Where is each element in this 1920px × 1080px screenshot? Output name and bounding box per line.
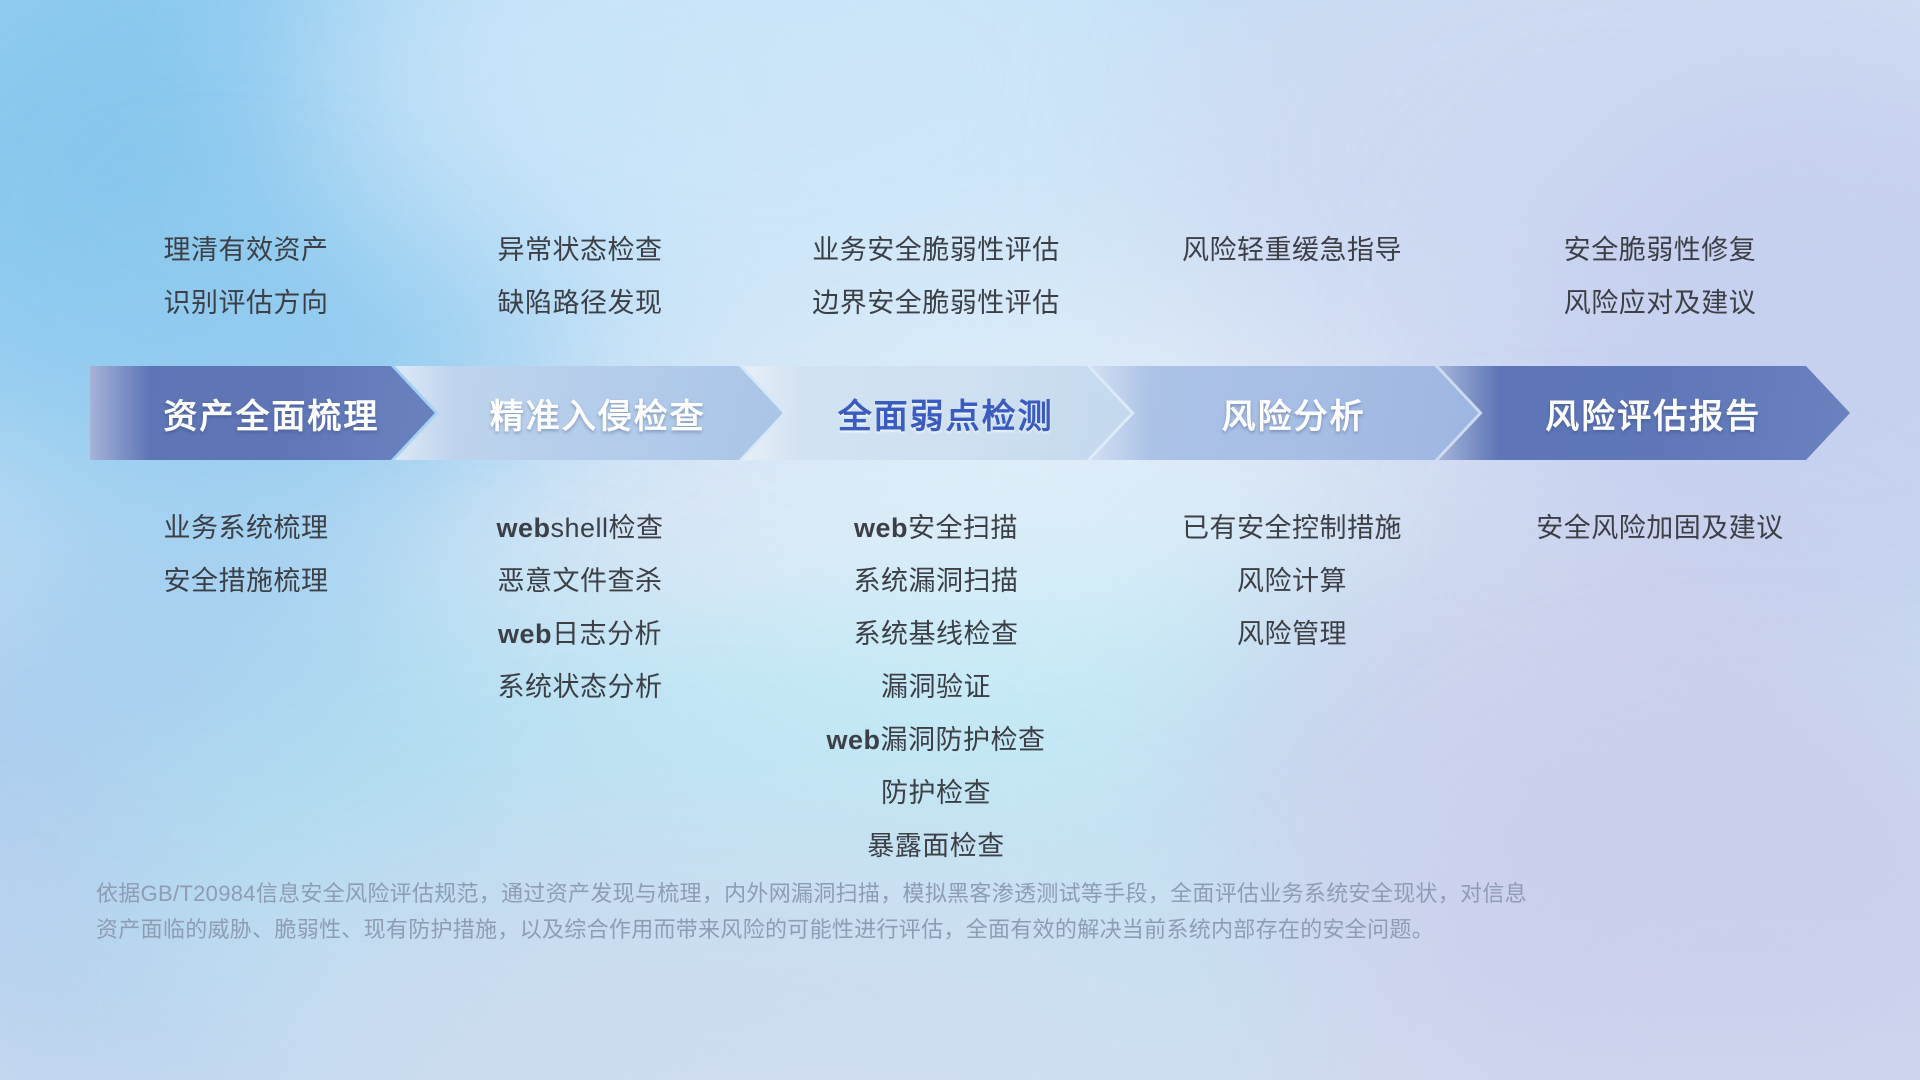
slide-content: 理清有效资产 识别评估方向 异常状态检查 缺陷路径发现 业务安全脆弱性评估 边界… [0,0,1920,1080]
outputs-column-3: web安全扫描 系统漏洞扫描 系统基线检查 漏洞验证 web漏洞防护检查 防护检… [758,508,1114,866]
chevron-label: 风险分析 [1204,389,1366,438]
chevron-stage-2[interactable]: 精准入侵检查 [395,366,783,460]
input-item: 识别评估方向 [164,283,329,323]
output-item: 防护检查 [881,773,991,813]
footer-line-2: 资产面临的威胁、脆弱性、现有防护措施，以及综合作用而带来风险的可能性进行评估，全… [96,912,1736,948]
outputs-column-5: 安全风险加固及建议 [1470,508,1850,548]
input-item: 风险应对及建议 [1564,283,1757,323]
input-item: 安全脆弱性修复 [1564,230,1757,270]
output-item: 安全措施梳理 [164,561,329,601]
inputs-column-3: 业务安全脆弱性评估 边界安全脆弱性评估 [758,230,1114,323]
output-item: 系统漏洞扫描 [854,561,1019,601]
output-item: web漏洞防护检查 [826,720,1045,760]
output-item: 已有安全控制措施 [1182,508,1402,548]
inputs-column-1: 理清有效资产 识别评估方向 [90,230,402,323]
chevron-stage-1[interactable]: 资产全面梳理 [90,366,435,460]
output-item: web日志分析 [498,614,662,654]
output-item: 风险计算 [1237,561,1347,601]
output-item: webshell检查 [496,508,663,548]
chevron-label: 精准入侵检查 [472,389,706,438]
outputs-row: 业务系统梳理 安全措施梳理 webshell检查 恶意文件查杀 web日志分析 … [90,508,1850,866]
chevron-label: 资产全面梳理 [145,389,379,438]
chevron-label: 风险评估报告 [1527,389,1761,438]
input-item: 边界安全脆弱性评估 [812,283,1060,323]
input-item: 异常状态检查 [498,230,663,270]
inputs-column-2: 异常状态检查 缺陷路径发现 [402,230,758,323]
input-item: 业务安全脆弱性评估 [812,230,1060,270]
output-item: 风险管理 [1237,614,1347,654]
output-item: 业务系统梳理 [164,508,329,548]
output-item: 漏洞验证 [881,667,991,707]
output-item: 安全风险加固及建议 [1536,508,1784,548]
output-item: web安全扫描 [854,508,1018,548]
outputs-column-1: 业务系统梳理 安全措施梳理 [90,508,402,601]
footer-description: 依据GB/T20984信息安全风险评估规范，通过资产发现与梳理，内外网漏洞扫描，… [96,876,1736,948]
footer-line-1: 依据GB/T20984信息安全风险评估规范，通过资产发现与梳理，内外网漏洞扫描，… [96,876,1736,912]
output-item: 恶意文件查杀 [498,561,663,601]
output-item: 系统状态分析 [498,667,663,707]
input-item: 缺陷路径发现 [498,283,663,323]
input-item: 风险轻重缓急指导 [1182,230,1402,270]
outputs-column-2: webshell检查 恶意文件查杀 web日志分析 系统状态分析 [402,508,758,707]
chevron-stage-4[interactable]: 风险分析 [1091,366,1479,460]
inputs-column-4: 风险轻重缓急指导 [1114,230,1470,270]
chevron-stage-3[interactable]: 全面弱点检测 [743,366,1131,460]
output-item: 系统基线检查 [854,614,1019,654]
process-chevron-band: 资产全面梳理 精准入侵检查 全面弱点检测 风险分析 风险评估报告 [90,366,1850,460]
chevron-label: 全面弱点检测 [820,389,1054,438]
inputs-row: 理清有效资产 识别评估方向 异常状态检查 缺陷路径发现 业务安全脆弱性评估 边界… [90,230,1850,323]
slide-canvas: 理清有效资产 识别评估方向 异常状态检查 缺陷路径发现 业务安全脆弱性评估 边界… [0,0,1920,1080]
output-item: 暴露面检查 [867,826,1005,866]
input-item: 理清有效资产 [164,230,329,270]
chevron-stage-5[interactable]: 风险评估报告 [1439,366,1850,460]
inputs-column-5: 安全脆弱性修复 风险应对及建议 [1470,230,1850,323]
outputs-column-4: 已有安全控制措施 风险计算 风险管理 [1114,508,1470,654]
